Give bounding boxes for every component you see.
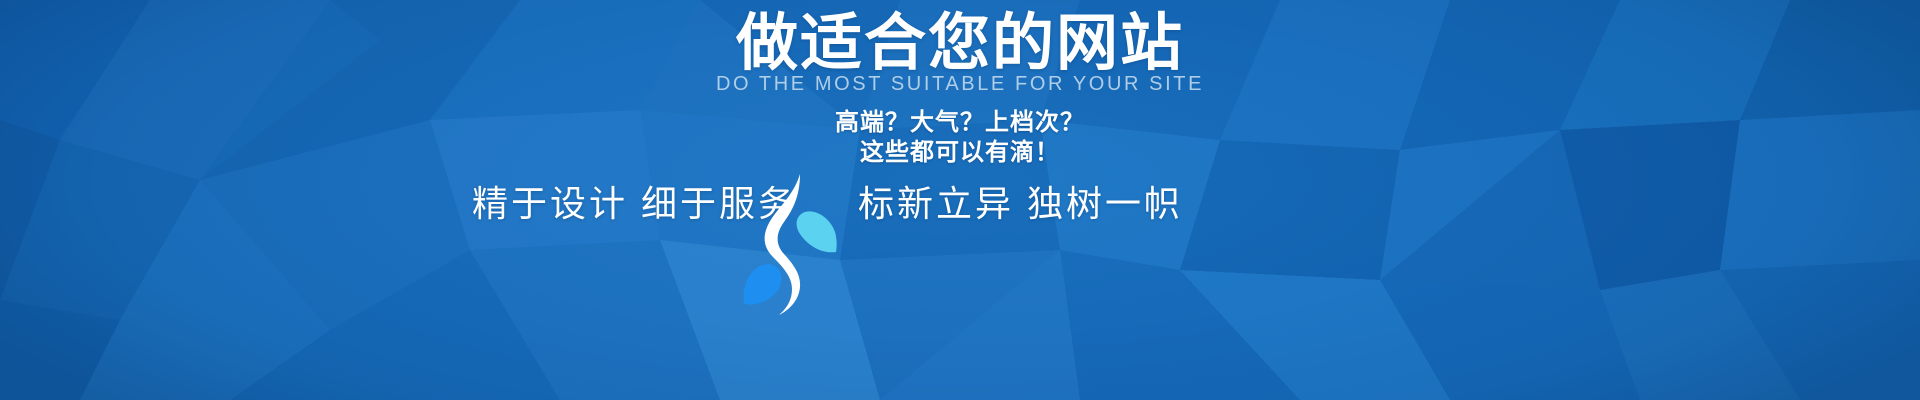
banner-slogan-right: 标新立异 独树一帜 (858, 180, 1183, 228)
logo-leaf-lower-icon (744, 264, 782, 304)
logo-leaf-upper-icon (797, 211, 837, 252)
banner-tagline-line-1: 高端？大气？上档次？ (0, 108, 1920, 138)
banner-content: 做适合您的网站 DO THE MOST SUITABLE FOR YOUR SI… (0, 0, 1920, 400)
leaf-sprout-logo (742, 172, 838, 317)
hero-banner: 做适合您的网站 DO THE MOST SUITABLE FOR YOUR SI… (0, 0, 1920, 400)
banner-subheadline-english: DO THE MOST SUITABLE FOR YOUR SITE (0, 72, 1920, 96)
banner-headline: 做适合您的网站 (0, 9, 1920, 79)
banner-tagline-line-2: 这些都可以有滴！ (0, 138, 1920, 168)
